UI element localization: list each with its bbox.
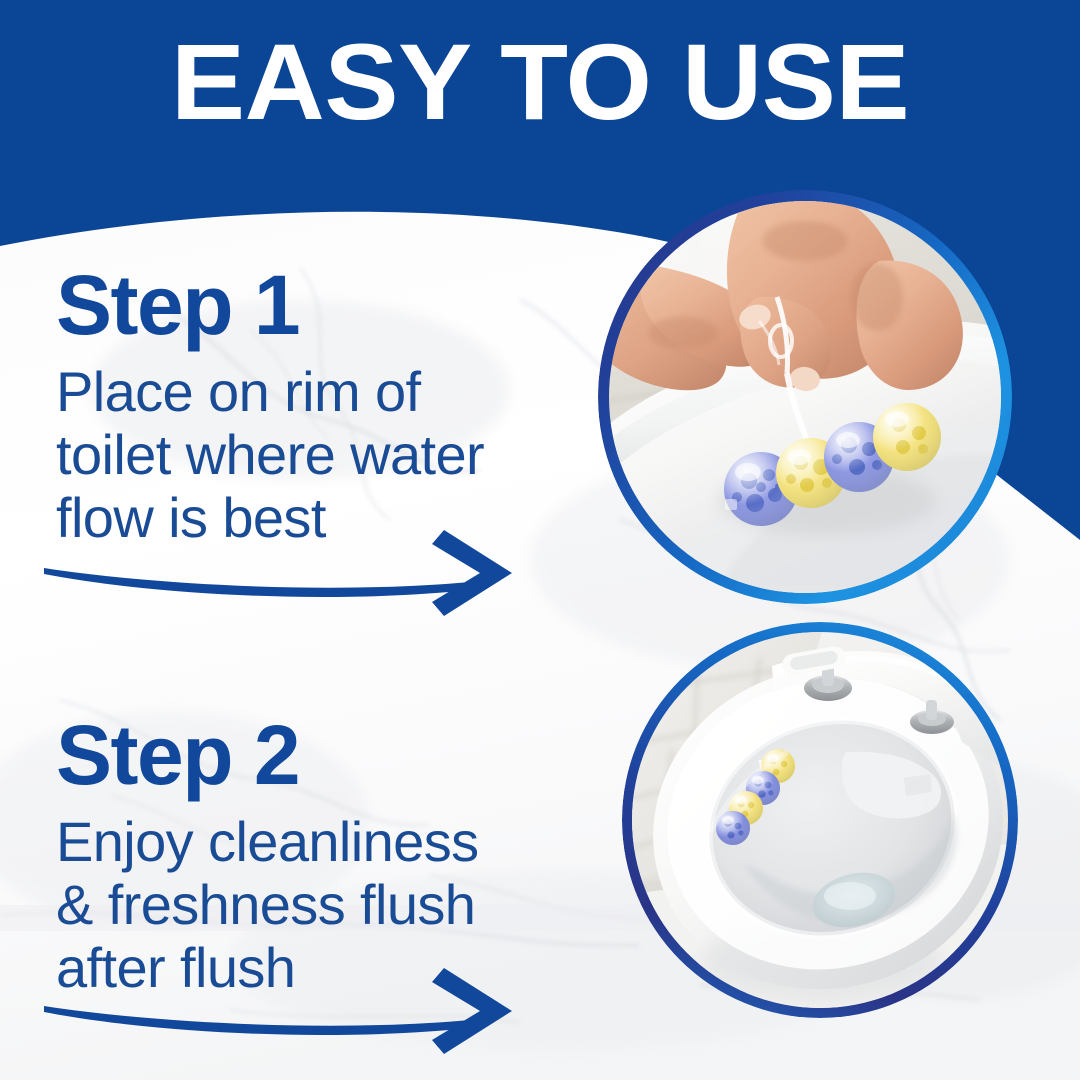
infographic-canvas: EASY TO USE Step 1 Place on rim of toile…: [0, 0, 1080, 1080]
step-2-photo: [622, 622, 1018, 1018]
step-2-photo-inner: [632, 632, 1008, 1008]
page-title: EASY TO USE: [0, 26, 1080, 138]
toilet-bowl-with-rim-block-scene: [632, 632, 1008, 1008]
step-1-description: Place on rim of toilet where water flow …: [56, 360, 484, 549]
step-2-block: Step 2 Enjoy cleanliness & freshness flu…: [56, 712, 479, 999]
step-1-title: Step 1: [56, 262, 484, 348]
step-1-block: Step 1 Place on rim of toilet where wate…: [56, 262, 484, 549]
step-1-arrow-icon: [40, 524, 600, 620]
step-2-title: Step 2: [56, 712, 479, 798]
step-1-photo-inner: [609, 201, 1001, 593]
hand-placing-rim-block-scene: [609, 201, 1001, 593]
step-1-photo: [598, 190, 1012, 604]
step-2-arrow-icon: [40, 962, 600, 1058]
